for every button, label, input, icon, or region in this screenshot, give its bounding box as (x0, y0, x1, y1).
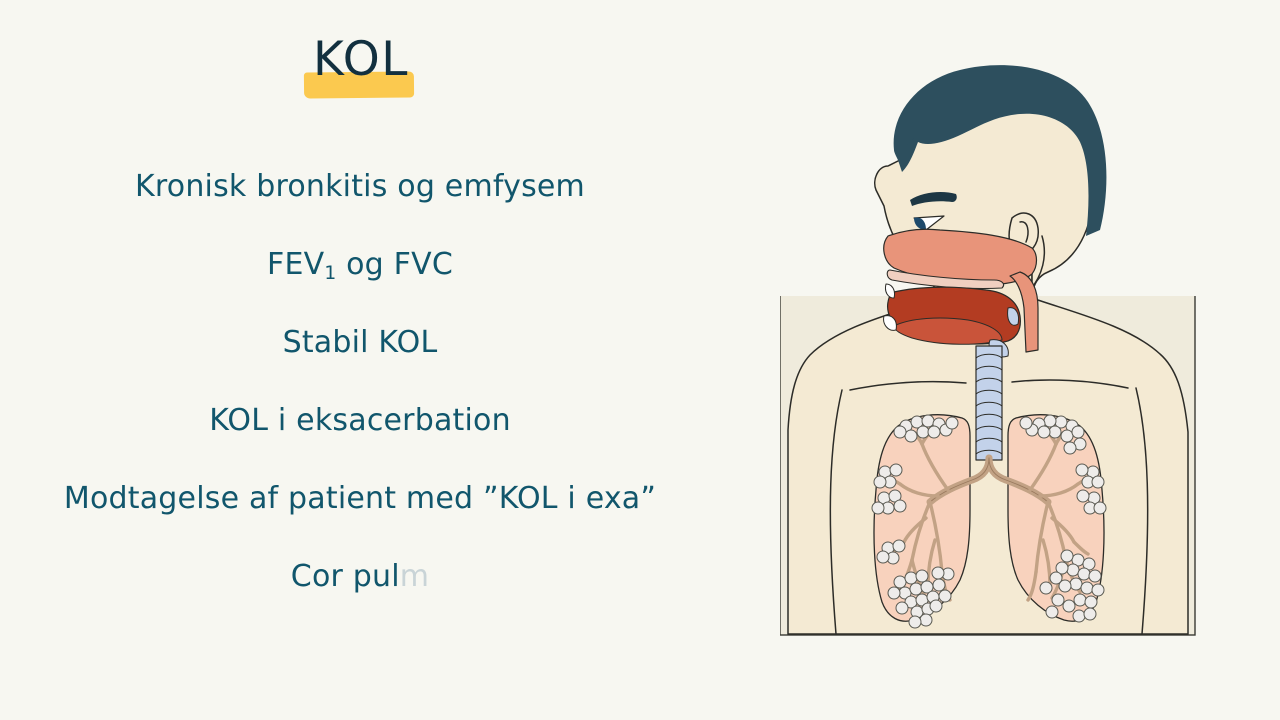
respiratory-system-illustration (780, 40, 1196, 636)
topic-list: Kronisk bronkitis og emfysem FEV1 og FVC… (0, 160, 720, 628)
list-item: Modtagelse af patient med ”KOL i exa” (0, 472, 720, 550)
page-title: KOL (296, 30, 426, 102)
list-item-text: Kronisk bronkitis og emfysem (135, 169, 585, 204)
list-item: KOL i eksacerbation (0, 394, 720, 472)
list-item-text: KOL i eksacerbation (209, 403, 511, 438)
list-item-text-after: og FVC (336, 247, 453, 282)
trachea (976, 346, 1002, 460)
list-item-typing: Cor pulm (0, 550, 720, 628)
list-item-subscript: 1 (324, 263, 336, 284)
list-item: Stabil KOL (0, 316, 720, 394)
list-item: FEV1 og FVC (0, 238, 720, 316)
slide-root: KOL Kronisk bronkitis og emfysem FEV1 og… (0, 0, 1280, 720)
title-text: KOL (296, 30, 426, 90)
anatomy-diagram-svg (780, 40, 1196, 636)
list-item-text: Cor pul (291, 559, 400, 594)
list-item-text: Stabil KOL (283, 325, 438, 360)
list-item-partial-char: m (400, 559, 429, 594)
list-item-text: Modtagelse af patient med ”KOL i exa” (64, 481, 656, 516)
list-item: Kronisk bronkitis og emfysem (0, 160, 720, 238)
list-item-text: FEV (267, 247, 324, 282)
